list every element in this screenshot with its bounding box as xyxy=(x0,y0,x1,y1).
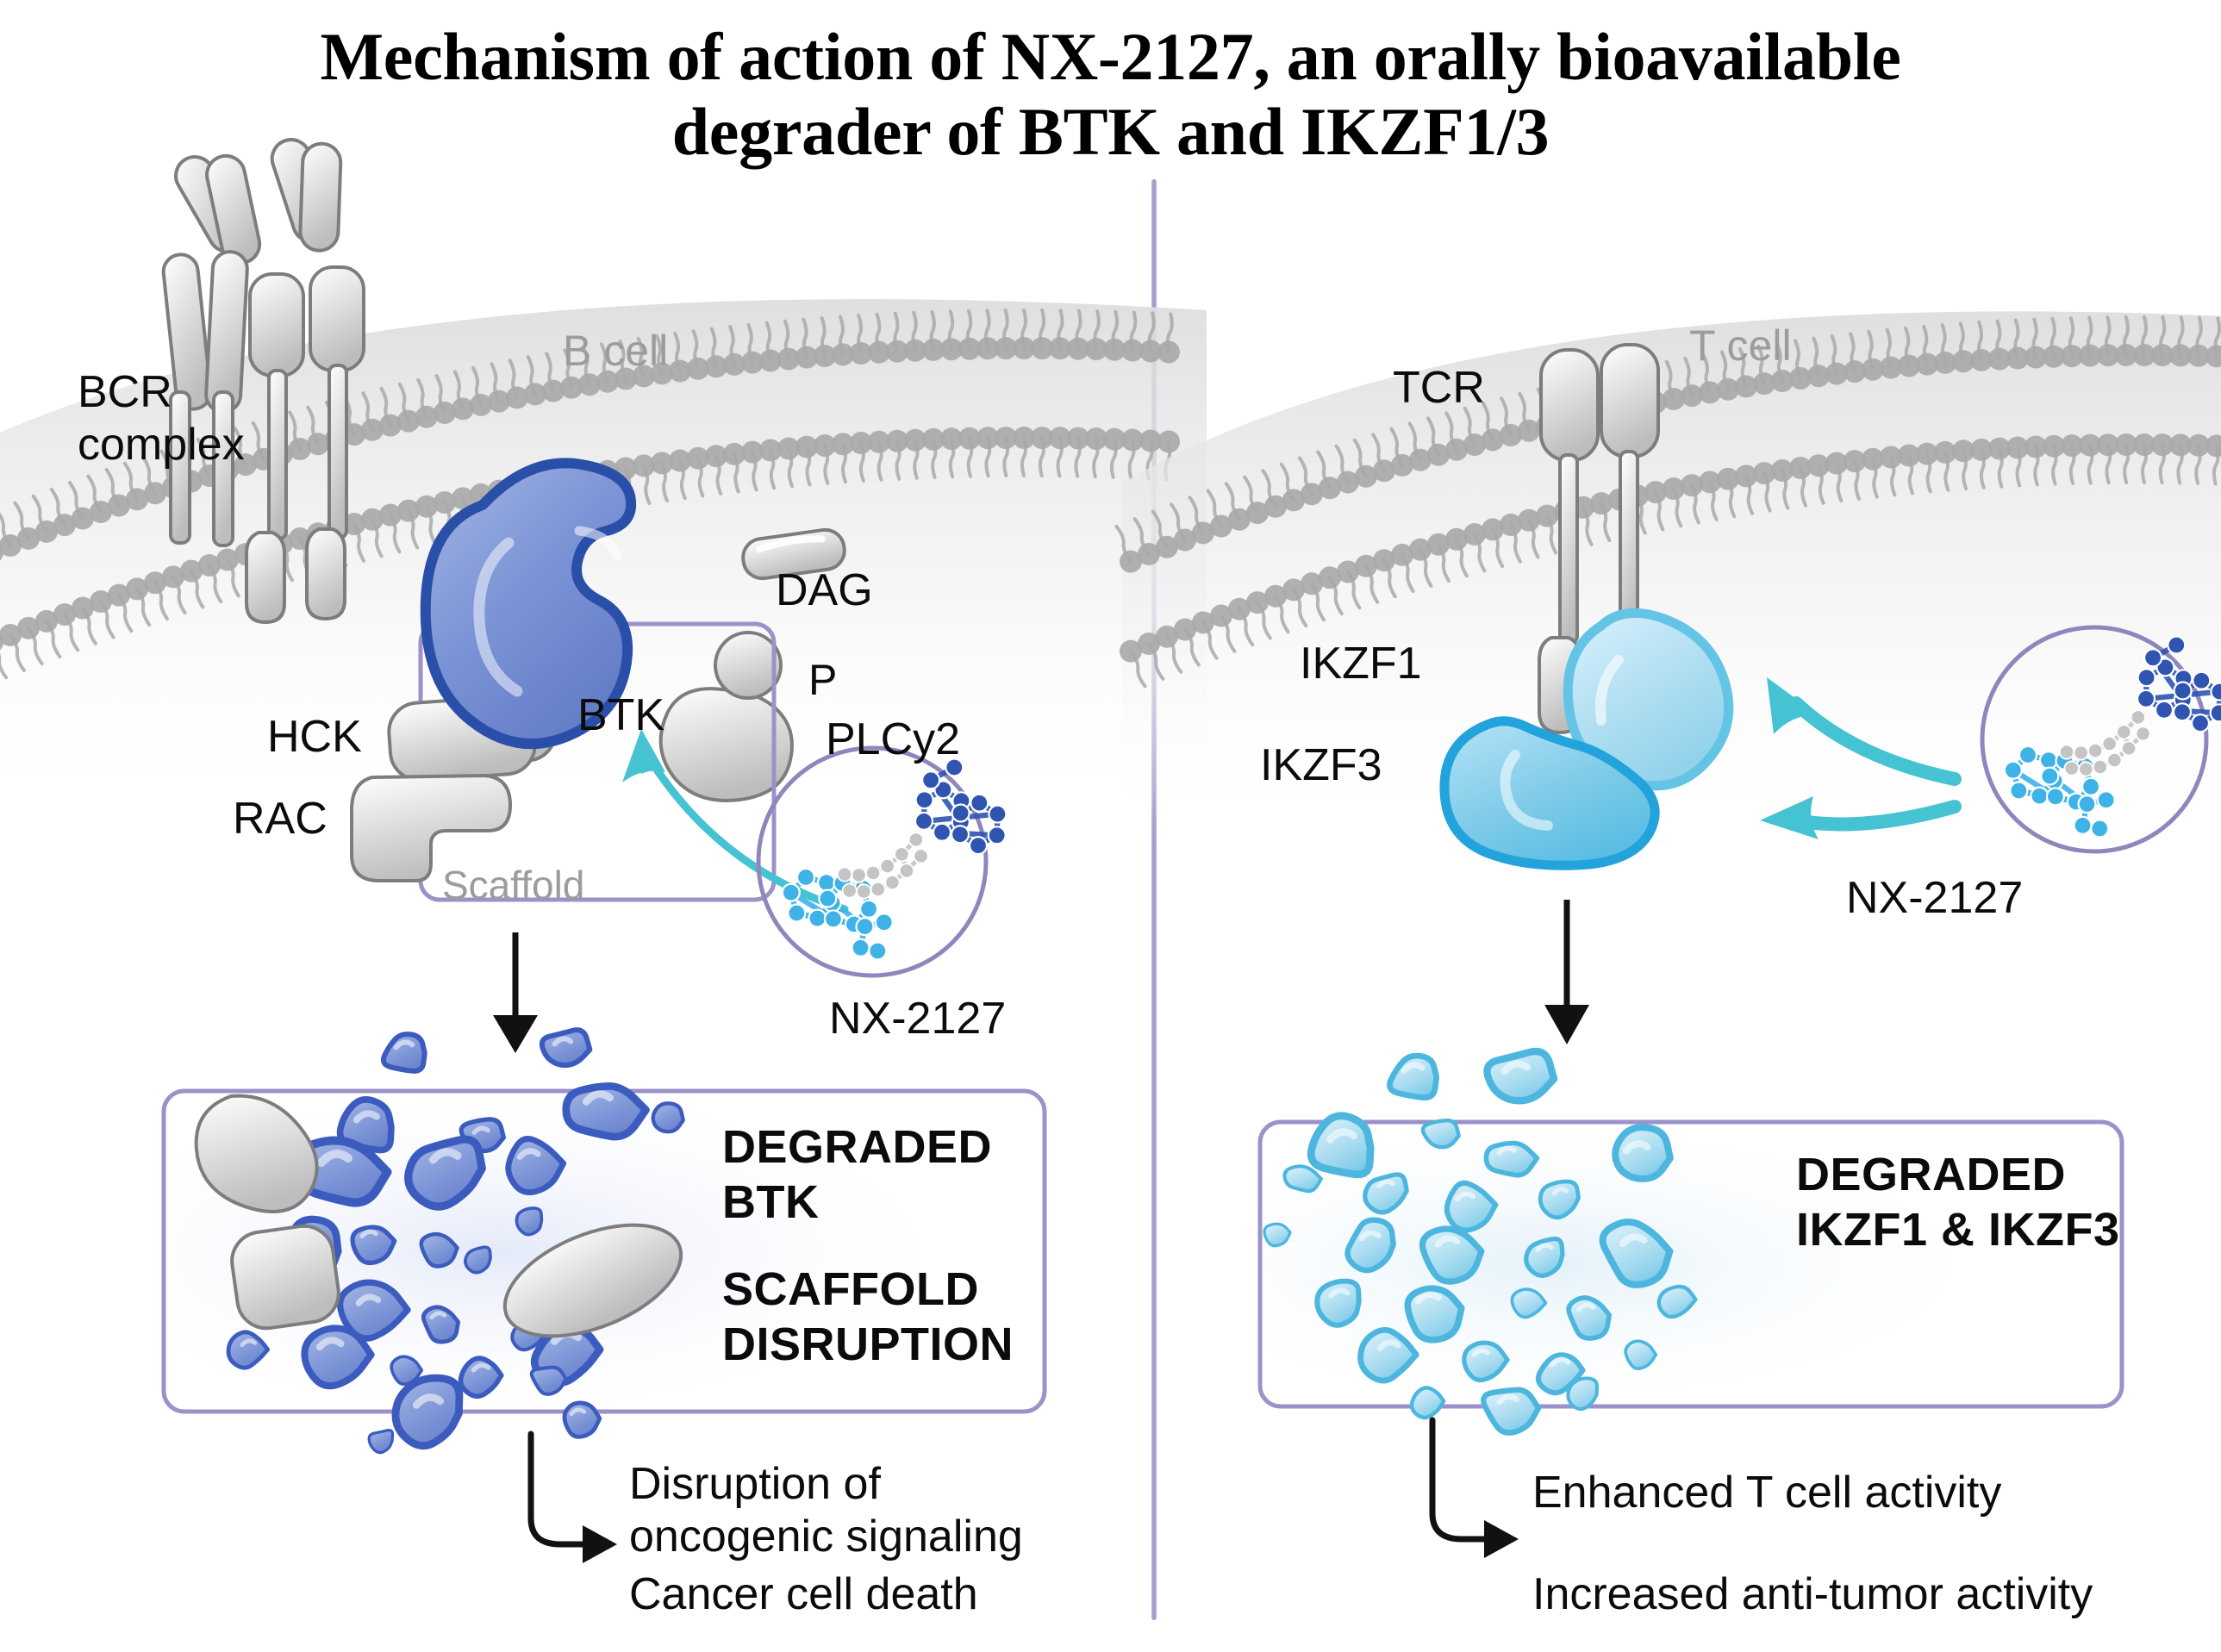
degraded-btk-text: DEGRADED BTK xyxy=(722,1120,992,1230)
right-outcome-text-1: Enhanced T cell activity xyxy=(1532,1467,2001,1519)
scaffold-disruption-text: SCAFFOLD DISRUPTION xyxy=(722,1262,1014,1372)
t-cell-label: T cell xyxy=(1689,321,1792,371)
b-cell-label: B cell xyxy=(563,326,668,377)
b-cell-panel: BCR complex B cell HCK RAC BTK Scaffold … xyxy=(0,0,1151,1652)
bcr-complex-label: BCR complex xyxy=(78,366,245,472)
left-outcome-text-2: Cancer cell death xyxy=(629,1568,978,1621)
t-cell-panel: TCR T cell IKZF1 IKZF3 NX-2127 DEGRADED … xyxy=(1157,0,2221,1652)
b-cell-graphics xyxy=(0,0,1151,1652)
scaffold-label: Scaffold xyxy=(442,862,584,908)
plcg2-label: PLCy2 xyxy=(826,714,960,766)
right-outcome-text-2: Increased anti-tumor activity xyxy=(1532,1568,2093,1621)
dag-label: DAG xyxy=(776,564,873,617)
tcr-label: TCR xyxy=(1393,362,1485,415)
left-outcome-arrow xyxy=(531,1434,617,1563)
rac-label: RAC xyxy=(233,793,328,845)
nx-2127-label-right: NX-2127 xyxy=(1846,872,2023,925)
nx-2127-label-left: NX-2127 xyxy=(829,993,1006,1045)
btk-label: BTK xyxy=(577,689,664,742)
degraded-ikzf-text: DEGRADED IKZF1 & IKZF3 xyxy=(1796,1148,2120,1257)
t-cell-graphics xyxy=(1157,0,2221,1652)
ikzf-to-degraded-arrow xyxy=(1544,900,1589,1044)
right-outcome-arrow xyxy=(1432,1420,1519,1558)
hck-label: HCK xyxy=(267,711,362,764)
left-outcome-text-1: Disruption of oncogenic signaling xyxy=(629,1458,1023,1564)
figure-canvas: Mechanism of action of NX-2127, an orall… xyxy=(0,0,2221,1652)
ikzf1-label: IKZF1 xyxy=(1300,638,1422,690)
phospho-label: P xyxy=(808,655,837,706)
scaffold-to-degraded-arrow xyxy=(493,932,538,1053)
ikzf3-label: IKZF3 xyxy=(1260,739,1382,792)
